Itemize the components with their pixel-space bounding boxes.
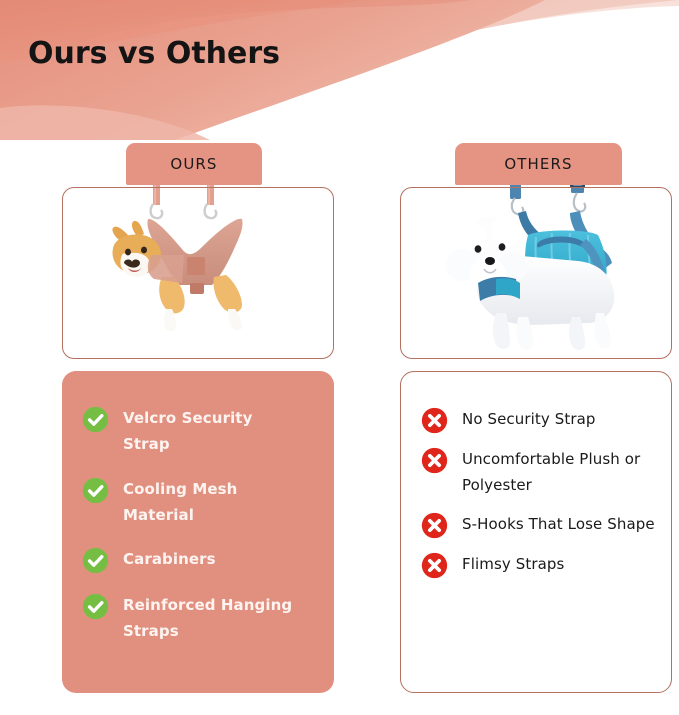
feature-item: Carabiners [82,546,324,574]
feature-label: Carabiners [123,546,216,572]
cross-circle-icon [421,447,448,474]
feature-label: Cooling Mesh Material [123,476,298,529]
dog-hind-leg [213,275,242,330]
feature-item: Flimsy Straps [421,551,661,579]
feature-item: Cooling Mesh Material [82,476,324,529]
others-product-photo [400,187,672,359]
product-image-card-ours [62,187,334,359]
feature-label: No Security Strap [462,406,596,432]
cross-circle-icon [421,512,448,539]
header-banner: Ours vs Others [0,0,679,140]
tab-ours-label: OURS [170,155,217,173]
cross-circle-icon [421,407,448,434]
dog-front-leg [159,277,184,331]
carabiner-right [205,204,217,218]
feature-item: No Security Strap [421,406,661,434]
feature-panel-others: No Security Strap Uncomfortable Plush or… [400,371,672,693]
feature-list-others: No Security Strap Uncomfortable Plush or… [421,406,661,591]
tab-others[interactable]: OTHERS [455,143,622,185]
page-title: Ours vs Others [28,36,280,72]
feature-item: S-Hooks That Lose Shape [421,511,661,539]
tab-ours[interactable]: OURS [126,143,262,185]
feature-label: Flimsy Straps [462,551,564,577]
s-hook-right [574,193,585,211]
feature-label: Reinforced Hanging Straps [123,592,298,645]
check-circle-icon [82,406,109,433]
product-image-card-others [400,187,672,359]
feature-label: Uncomfortable Plush or Polyester [462,446,657,499]
check-circle-icon [82,477,109,504]
tab-others-label: OTHERS [504,155,572,173]
carabiner-left [151,204,163,218]
feature-label: S-Hooks That Lose Shape [462,511,655,537]
feature-panel-ours: Velcro Security Strap Cooling Mesh Mater… [62,371,334,693]
ours-product-photo [62,187,334,359]
check-circle-icon [82,593,109,620]
feature-list-ours: Velcro Security Strap Cooling Mesh Mater… [82,405,324,663]
feature-label: Velcro Security Strap [123,405,298,458]
feature-item: Uncomfortable Plush or Polyester [421,446,661,499]
feature-item: Velcro Security Strap [82,405,324,458]
check-circle-icon [82,547,109,574]
cross-circle-icon [421,552,448,579]
feature-item: Reinforced Hanging Straps [82,592,324,645]
s-hook-left [512,198,523,214]
